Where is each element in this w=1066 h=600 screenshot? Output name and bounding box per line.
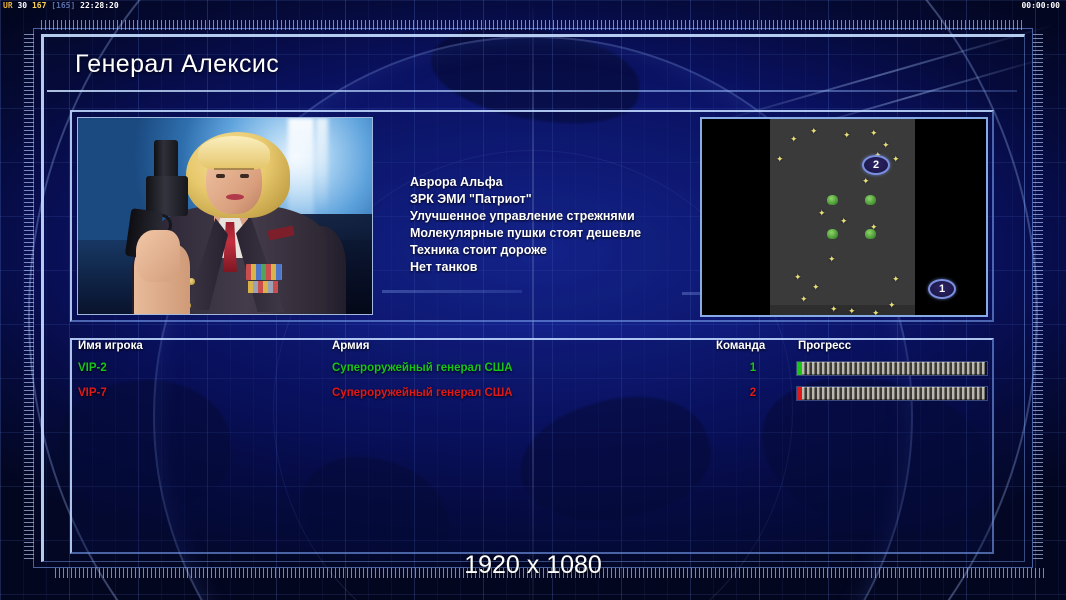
player-name: VIP-7	[78, 387, 107, 399]
player-army: Супероружейный генерал США	[332, 362, 513, 374]
map-supply-star-icon: ✦	[862, 177, 870, 186]
hud-label: UR	[3, 1, 13, 10]
general-portrait	[77, 117, 373, 315]
portrait-medal-ribbons	[248, 281, 278, 293]
players-table-header: Имя игрока Армия Команда Прогресс	[78, 340, 998, 358]
description-line: Аврора Альфа	[410, 174, 641, 191]
portrait-light-beam	[316, 118, 328, 213]
players-table-body: VIP-2Супероружейный генерал США1VIP-7Суп…	[70, 358, 994, 408]
general-info-panel: Аврора Альфа ЗРК ЭМИ "Патриот" Улучшенно…	[70, 110, 994, 322]
player-army: Супероружейный генерал США	[332, 387, 513, 399]
map-tree-icon	[865, 195, 876, 205]
decorative-separator	[382, 290, 522, 293]
map-supply-star-icon: ✦	[840, 217, 848, 226]
map-supply-star-icon: ✦	[882, 141, 890, 150]
game-timer: 00:00:00	[1021, 1, 1060, 10]
map-supply-star-icon: ✦	[870, 129, 878, 138]
map-supply-star-icon: ✦	[800, 295, 808, 304]
portrait-hand	[136, 230, 180, 282]
map-supply-star-icon: ✦	[790, 135, 798, 144]
table-row[interactable]: VIP-2Супероружейный генерал США1	[70, 358, 994, 383]
column-header-army: Армия	[332, 340, 369, 352]
map-tree-icon	[865, 229, 876, 239]
map-supply-star-icon: ✦	[830, 305, 838, 314]
portrait-eye-left	[216, 174, 225, 178]
hud-value-2: 167	[32, 1, 46, 10]
map-supply-star-icon: ✦	[828, 255, 836, 264]
portrait-eyebrows	[214, 168, 254, 170]
hud-clock: 22:28:20	[80, 1, 119, 10]
table-row[interactable]: VIP-7Супероружейный генерал США2	[70, 383, 994, 408]
page-title: Генерал Алексис	[75, 50, 279, 79]
resolution-overlay: 1920 x 1080	[0, 551, 1066, 580]
map-supply-star-icon: ✦	[810, 127, 818, 136]
player-progress-bar	[796, 361, 988, 376]
ruler-ticks-right	[1033, 34, 1043, 562]
ruler-ticks-left	[24, 34, 34, 562]
map-supply-star-icon: ✦	[892, 275, 900, 284]
column-header-team: Команда	[716, 340, 765, 352]
map-supply-star-icon: ✦	[812, 283, 820, 292]
column-header-name: Имя игрока	[78, 340, 143, 352]
map-tree-icon	[827, 195, 838, 205]
game-lobby-screen: UR 30 167 [165] 22:28:20 00:00:00 Генера…	[0, 0, 1066, 600]
map-supply-star-icon: ✦	[794, 273, 802, 282]
map-start-position-marker[interactable]: 2	[862, 155, 890, 175]
hud-value-1: 30	[17, 1, 27, 10]
map-supply-star-icon: ✦	[843, 131, 851, 140]
description-line: Улучшенное управление стрежнями	[410, 208, 641, 225]
ruler-ticks-top	[41, 20, 1025, 30]
debug-hud-left: UR 30 167 [165] 22:28:20	[3, 1, 119, 10]
progress-bar-fill	[802, 387, 985, 400]
player-progress-bar	[796, 386, 988, 401]
description-line: Молекулярные пушки стоят дешевле	[410, 225, 641, 242]
map-supply-star-icon: ✦	[848, 307, 856, 316]
page-title-bar: Генерал Алексис	[47, 38, 1017, 90]
portrait-medal-ribbons	[246, 264, 282, 280]
map-supply-star-icon: ✦	[888, 301, 896, 310]
map-start-position-marker[interactable]: 1	[928, 279, 956, 299]
map-supply-star-icon: ✦	[818, 209, 826, 218]
map-supply-star-icon: ✦	[776, 155, 784, 164]
map-supply-star-icon: ✦	[892, 155, 900, 164]
description-line: ЗРК ЭМИ "Патриот"	[410, 191, 641, 208]
general-description-list: Аврора Альфа ЗРК ЭМИ "Патриот" Улучшенно…	[410, 174, 641, 276]
map-tree-icon	[827, 229, 838, 239]
player-team: 1	[746, 362, 760, 374]
progress-bar-fill	[802, 362, 985, 375]
column-header-progress: Прогресс	[798, 340, 851, 352]
portrait-hair-fringe	[198, 136, 270, 170]
description-line: Нет танков	[410, 259, 641, 276]
portrait-eye-right	[240, 174, 249, 178]
player-name: VIP-2	[78, 362, 107, 374]
title-divider	[47, 90, 1017, 92]
hud-value-3: [165]	[51, 1, 75, 10]
map-preview[interactable]: ✦✦✦✦✦✦✦✦✦✦✦✦✦✦✦✦✦✦✦✦✦ 21	[700, 117, 988, 317]
portrait-lips	[226, 194, 244, 200]
description-line: Техника стоит дороже	[410, 242, 641, 259]
player-team: 2	[746, 387, 760, 399]
map-supply-star-icon: ✦	[872, 309, 880, 317]
